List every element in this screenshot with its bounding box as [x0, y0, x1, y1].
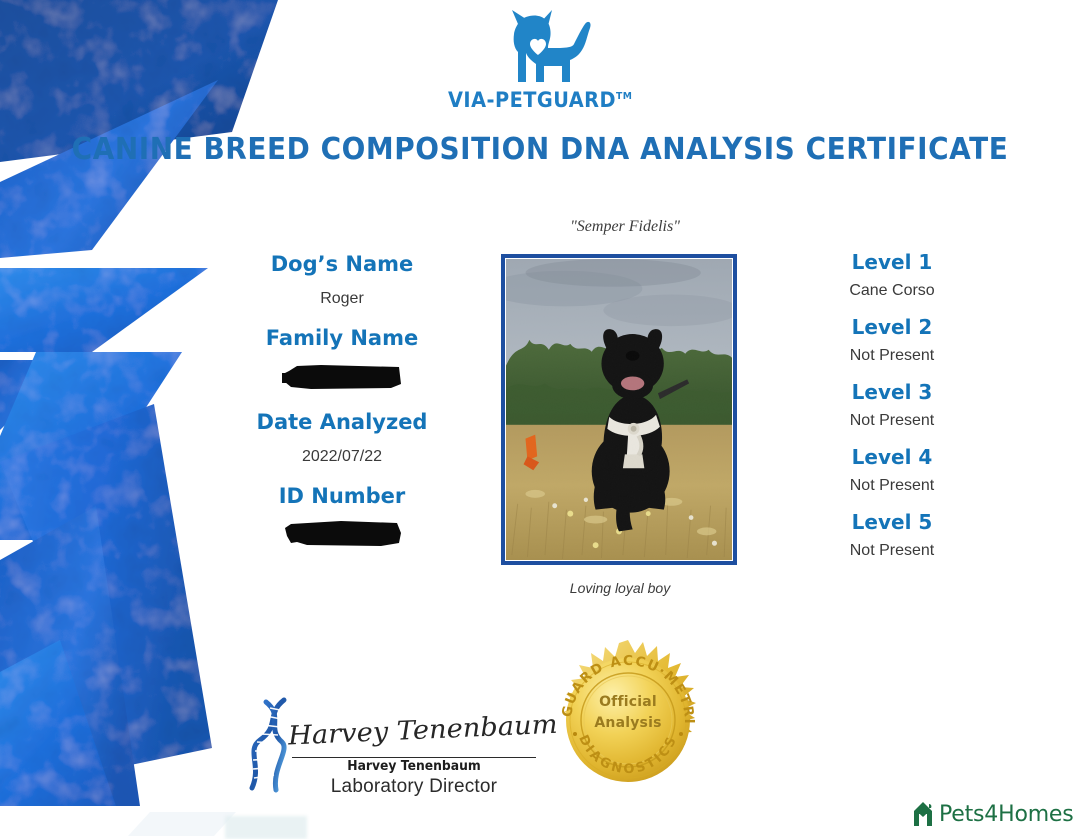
- field-id-number: ID Number: [242, 484, 442, 549]
- watermark-label: Pets4Homes: [939, 802, 1074, 827]
- signature-block: Harvey Tenenbaum Harvey Tenenbaum Labora…: [246, 694, 536, 798]
- level-label: Level 3: [796, 380, 988, 405]
- field-value: Roger: [242, 289, 442, 308]
- brand-wordmark: VIA-PETGUARDTM: [448, 88, 632, 112]
- brand-name: VIA-PETGUARD: [448, 88, 616, 112]
- level-value: Not Present: [796, 346, 988, 366]
- level-value: Not Present: [796, 541, 988, 561]
- owner-details-column: Dog’s Name Roger Family Name Date Analyz…: [242, 252, 442, 567]
- seal-center-line1: Official: [549, 692, 707, 713]
- dna-certificate-page: VIA-PETGUARDTM CANINE BREED COMPOSITION …: [0, 0, 1080, 839]
- dog-photo-frame: [501, 254, 737, 565]
- dog-photo: [506, 259, 732, 560]
- official-analysis-seal: VIAGUARD ACCU·METRICS DIAGNOSTICS Offici…: [549, 640, 707, 800]
- pets4homes-house-icon: [912, 800, 936, 828]
- trademark-symbol: TM: [616, 91, 632, 102]
- field-family-name: Family Name: [242, 326, 442, 391]
- field-dogs-name: Dog’s Name Roger: [242, 252, 442, 308]
- handwritten-signature: Harvey Tenenbaum: [287, 711, 540, 752]
- level-row: Level 4 Not Present: [796, 445, 988, 496]
- field-value: 2022/07/22: [242, 447, 442, 466]
- field-label: Date Analyzed: [242, 410, 442, 435]
- level-label: Level 5: [796, 510, 988, 535]
- field-label: ID Number: [242, 484, 442, 509]
- field-label: Dog’s Name: [242, 252, 442, 277]
- bottom-artifact: [225, 816, 307, 839]
- pets4homes-watermark[interactable]: Pets4Homes: [912, 800, 1074, 828]
- level-label: Level 1: [796, 250, 988, 275]
- redaction-bar-family-name: [281, 362, 403, 392]
- signatory-role: Laboratory Director: [286, 776, 542, 798]
- certificate-title: CANINE BREED COMPOSITION DNA ANALYSIS CE…: [38, 132, 1042, 167]
- field-date-analyzed: Date Analyzed 2022/07/22: [242, 410, 442, 466]
- field-label: Family Name: [242, 326, 442, 351]
- level-value: Cane Corso: [796, 281, 988, 301]
- breed-levels-column: Level 1 Cane Corso Level 2 Not Present L…: [796, 250, 988, 575]
- seal-center-line2: Analysis: [549, 713, 707, 734]
- level-row: Level 2 Not Present: [796, 315, 988, 366]
- brand-logo: VIA-PETGUARDTM: [0, 8, 1080, 112]
- level-label: Level 4: [796, 445, 988, 470]
- level-row: Level 3 Not Present: [796, 380, 988, 431]
- level-row: Level 5 Not Present: [796, 510, 988, 561]
- photo-caption: Loving loyal boy: [470, 580, 770, 596]
- signature-line: [292, 757, 536, 758]
- seal-center-text: Official Analysis: [549, 692, 707, 734]
- dog-motto: "Semper Fidelis": [0, 218, 1080, 236]
- redaction-bar-id-number: [281, 519, 403, 549]
- signatory-name: Harvey Tenenbaum: [298, 759, 530, 774]
- level-value: Not Present: [796, 476, 988, 496]
- chihuahua-dog-logo-icon: [482, 8, 598, 92]
- level-label: Level 2: [796, 315, 988, 340]
- level-row: Level 1 Cane Corso: [796, 250, 988, 301]
- level-value: Not Present: [796, 411, 988, 431]
